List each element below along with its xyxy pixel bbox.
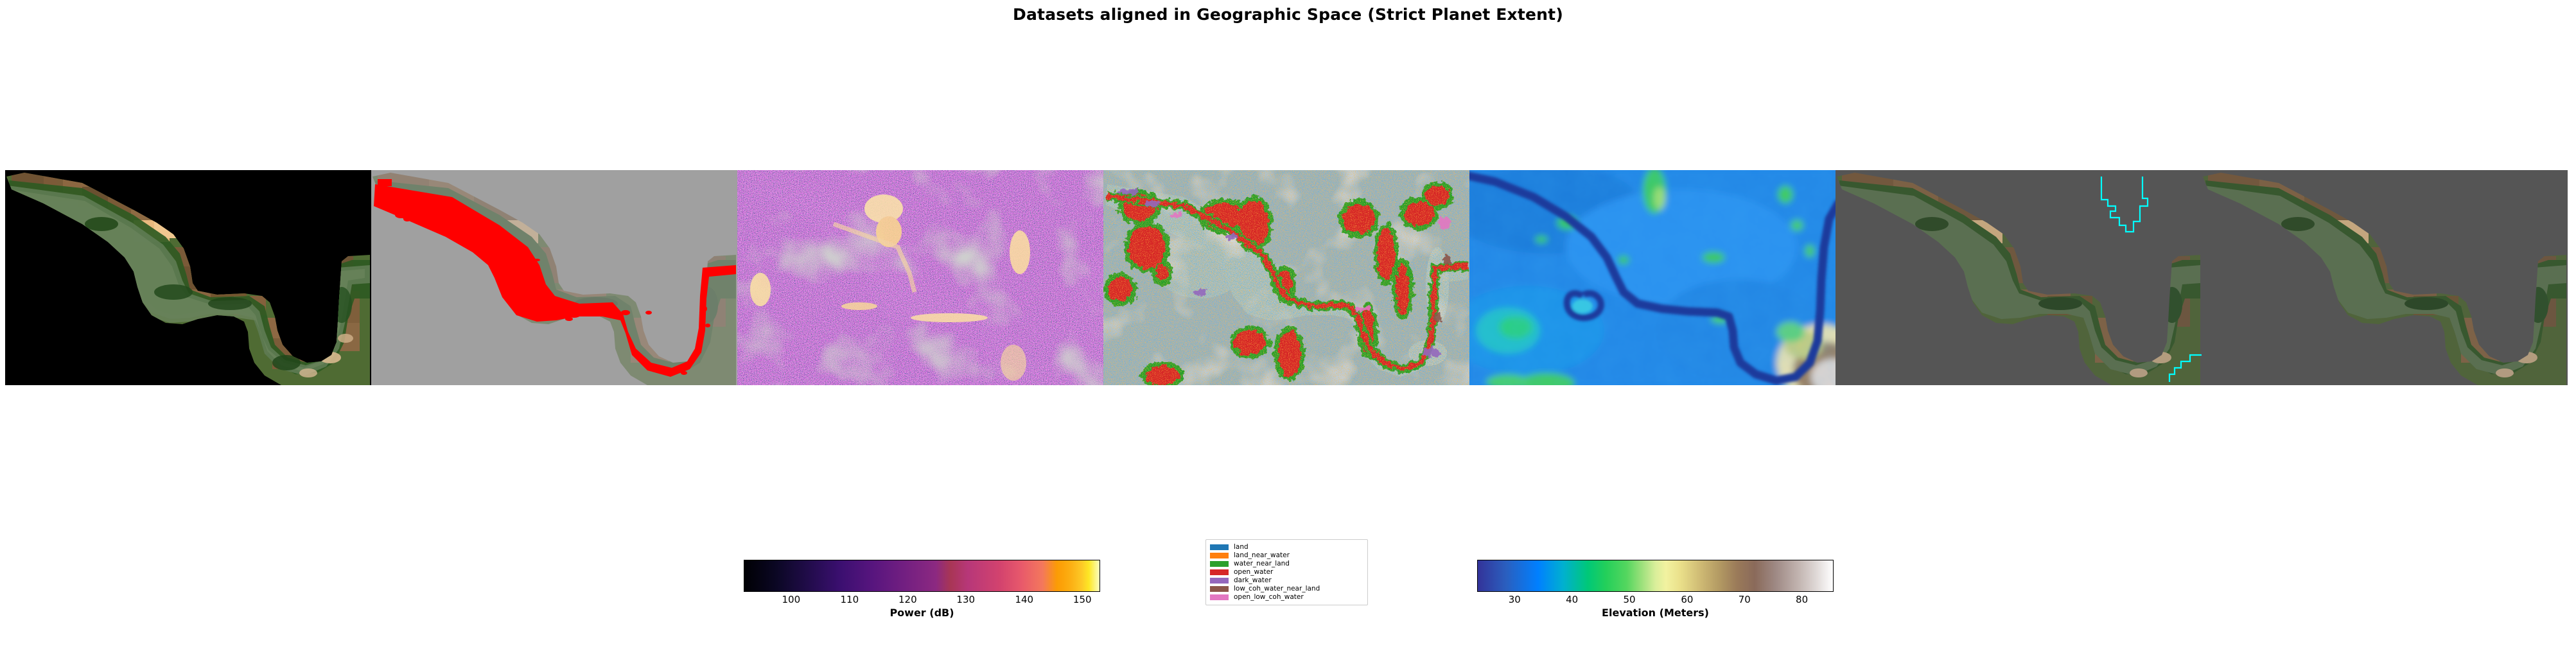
colorbar-elevation[interactable]: 30 40 50 60 70 80 Elevation (Meters): [1477, 560, 1834, 619]
tick-elev-3: 60: [1681, 594, 1693, 605]
legend-item-land[interactable]: land: [1210, 543, 1363, 551]
legend-label-land-near-water: land_near_water: [1234, 551, 1290, 560]
legend-label-dark-water: dark_water: [1234, 576, 1272, 585]
panel-pixc-classes[interactable]: PIXC Classes: [1103, 170, 1469, 385]
legend-swatch-land: [1210, 544, 1229, 550]
colorbar-power-ticks: 100 110 120 130 140 150: [744, 592, 1100, 606]
legend-swatch-open-water: [1210, 569, 1229, 575]
panel-merit-basins[interactable]: MERIT Basins: [1836, 170, 2202, 385]
figure-title: Datasets aligned in Geographic Space (St…: [0, 5, 2576, 24]
merit-rivers-image: [2202, 170, 2568, 385]
legend-swatch-land-near-water: [1210, 553, 1229, 558]
river-corridor-faded: [371, 170, 737, 385]
slc-ifgram-power-image: [737, 170, 1103, 385]
panel-planet-rgb[interactable]: Planet RGB: [5, 170, 371, 385]
legend-swatch-open-low-coh-water: [1210, 594, 1229, 600]
tick-power-2: 120: [898, 594, 917, 605]
legend-item-land-near-water[interactable]: land_near_water: [1210, 551, 1363, 560]
legend-item-low-coh-water-near-land[interactable]: low_coh_water_near_land: [1210, 585, 1363, 593]
legend-label-land: land: [1234, 543, 1249, 551]
river-corridor: [5, 170, 371, 385]
legend-label-water-near-land: water_near_land: [1234, 560, 1290, 568]
legend-swatch-water-near-land: [1210, 561, 1229, 567]
panel-slc-ifgram-power[interactable]: SLC Ifgram Power: [737, 170, 1103, 385]
legend-item-water-near-land[interactable]: water_near_land: [1210, 560, 1363, 568]
legend-item-open-low-coh-water[interactable]: open_low_coh_water: [1210, 593, 1363, 601]
legend-label-open-low-coh-water: open_low_coh_water: [1234, 593, 1304, 601]
merit-basins-image: [1836, 170, 2202, 385]
legend-label-low-coh-water-near-land: low_coh_water_near_land: [1234, 585, 1320, 593]
legend-swatch-low-coh-water-near-land: [1210, 586, 1229, 592]
colorbar-power-label: Power (dB): [744, 607, 1100, 619]
colorbar-elevation-ticks: 30 40 50 60 70 80: [1477, 592, 1834, 606]
tick-elev-5: 80: [1796, 594, 1808, 605]
colorbar-power[interactable]: 100 110 120 130 140 150 Power (dB): [744, 560, 1100, 619]
tick-elev-1: 40: [1566, 594, 1578, 605]
pixc-classes-legend[interactable]: land land_near_water water_near_land ope…: [1205, 539, 1368, 605]
colorbar-elevation-label: Elevation (Meters): [1477, 607, 1834, 619]
planet-prediction-image: [371, 170, 737, 385]
tick-power-4: 140: [1015, 594, 1033, 605]
colorbar-power-gradient: [744, 560, 1100, 592]
panel-merit-rivers[interactable]: MERIT Rivers: [2202, 170, 2568, 385]
tick-power-1: 110: [841, 594, 859, 605]
legend-label-open-water: open_water: [1234, 568, 1273, 576]
legend-item-dark-water[interactable]: dark_water: [1210, 576, 1363, 585]
tick-power-0: 100: [782, 594, 800, 605]
tick-elev-0: 30: [1509, 594, 1521, 605]
tick-elev-4: 70: [1739, 594, 1751, 605]
colorbar-elevation-gradient: [1477, 560, 1834, 592]
tick-power-3: 130: [956, 594, 975, 605]
legend-swatch-dark-water: [1210, 578, 1229, 584]
panel-planet-prediction[interactable]: Planet Prediction: [371, 170, 737, 385]
tick-elev-2: 50: [1623, 594, 1635, 605]
planet-rgb-image: [5, 170, 371, 385]
dem-elevation-image: [1469, 170, 1836, 385]
pixc-classes-image: [1103, 170, 1469, 385]
tick-power-5: 150: [1073, 594, 1092, 605]
figure-canvas: Datasets aligned in Geographic Space (St…: [0, 0, 2576, 649]
panel-dem-elevation[interactable]: DEM Elevation: [1469, 170, 1836, 385]
legend-item-open-water[interactable]: open_water: [1210, 568, 1363, 576]
